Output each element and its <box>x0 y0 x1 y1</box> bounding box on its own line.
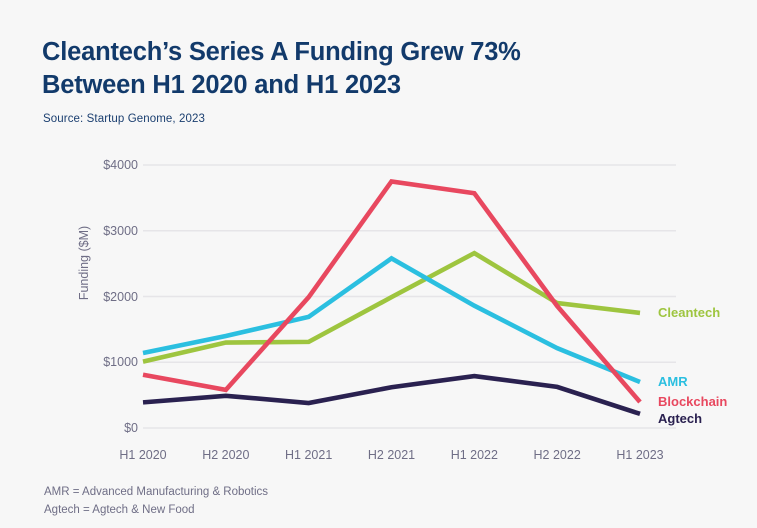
chart-page: Cleantech’s Series A Funding Grew 73% Be… <box>0 0 757 528</box>
series-label-blockchain: Blockchain <box>658 394 727 409</box>
series-line-agtech <box>143 376 640 414</box>
series-line-blockchain <box>143 181 640 402</box>
x-axis-tick-label: H1 2020 <box>119 448 166 462</box>
footnote-agtech: Agtech = Agtech & New Food <box>44 502 268 520</box>
chart-area: Funding ($M) $4000$3000$2000$1000$0 H1 2… <box>0 0 757 528</box>
x-axis-tick-labels: H1 2020H2 2020H1 2021H2 2021H1 2022H2 20… <box>0 448 757 468</box>
x-axis-tick-label: H2 2021 <box>368 448 415 462</box>
series-lines <box>143 181 640 413</box>
series-label-agtech: Agtech <box>658 411 702 426</box>
x-axis-tick-label: H1 2022 <box>451 448 498 462</box>
series-line-amr <box>143 258 640 382</box>
x-axis-tick-label: H2 2022 <box>534 448 581 462</box>
footnotes: AMR = Advanced Manufacturing & Robotics … <box>44 484 268 520</box>
series-line-cleantech <box>143 253 640 361</box>
x-axis-tick-label: H2 2020 <box>202 448 249 462</box>
series-label-amr: AMR <box>658 374 688 389</box>
x-axis-tick-label: H1 2021 <box>285 448 332 462</box>
x-axis-tick-label: H1 2023 <box>616 448 663 462</box>
footnote-amr: AMR = Advanced Manufacturing & Robotics <box>44 484 268 502</box>
series-label-cleantech: Cleantech <box>658 305 720 320</box>
